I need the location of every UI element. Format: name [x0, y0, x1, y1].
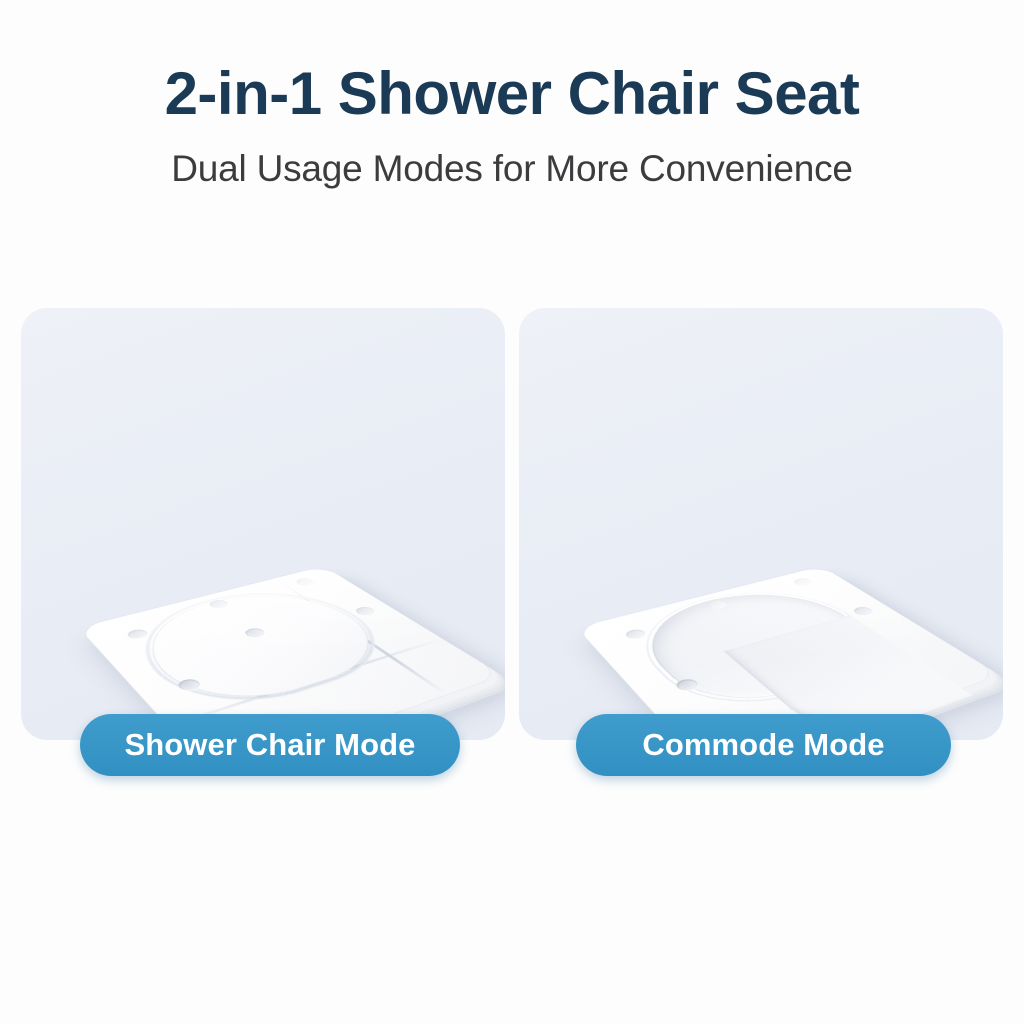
cover-insert	[119, 581, 407, 717]
screw-hole	[175, 677, 203, 692]
page-subtitle: Dual Usage Modes for More Convenience	[0, 125, 1024, 190]
screw-hole	[353, 606, 378, 617]
screw-hole	[125, 628, 150, 640]
header: 2-in-1 Shower Chair Seat Dual Usage Mode…	[0, 0, 1024, 190]
page-title: 2-in-1 Shower Chair Seat	[0, 0, 1024, 125]
panel-shower-chair[interactable]	[21, 308, 505, 740]
screw-hole	[791, 577, 814, 587]
commode-cutout	[619, 580, 904, 717]
panel-commode[interactable]	[519, 308, 1003, 740]
seat-perspective-shower-chair	[21, 548, 505, 740]
product-image-commode	[519, 308, 1003, 740]
seat-perspective-commode	[519, 548, 1003, 740]
screw-hole	[623, 628, 648, 640]
seat-wrap-shower-chair	[48, 504, 478, 740]
screw-hole	[851, 606, 876, 617]
badge-commode-mode[interactable]: Commode Mode	[576, 714, 951, 776]
screw-hole	[293, 577, 316, 587]
seat-wrap-commode	[546, 504, 976, 740]
screw-hole	[673, 677, 701, 692]
badge-shower-chair-mode[interactable]: Shower Chair Mode	[80, 714, 460, 776]
product-image-shower-chair	[21, 308, 505, 740]
